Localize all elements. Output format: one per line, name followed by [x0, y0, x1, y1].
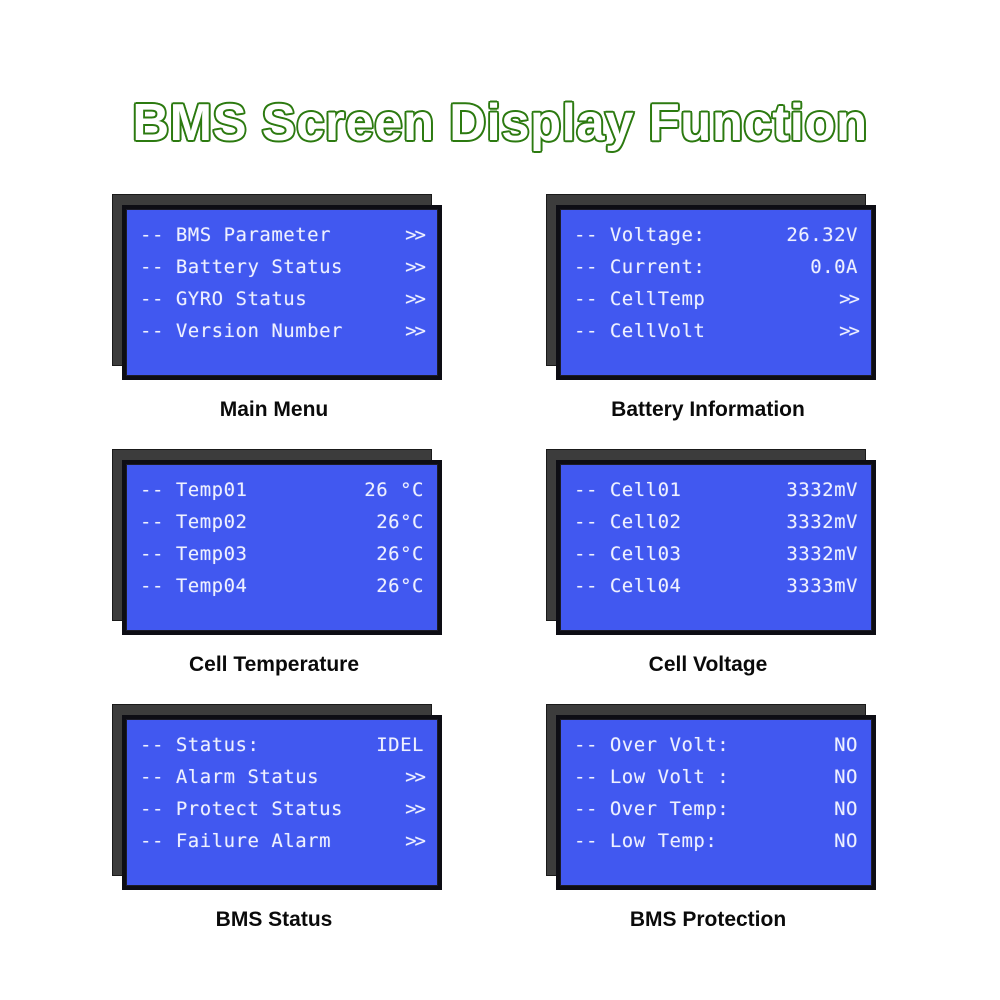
lcd-panel-battery-information[interactable]: -- Voltage:26.32V-- Current:0.0A-- CellT…	[536, 186, 936, 384]
lcd-item-label: CellVolt	[610, 320, 706, 342]
lcd-bullet-dashes: --	[574, 224, 598, 246]
lcd-menu-item[interactable]: -- Failure Alarm>>	[140, 831, 424, 852]
lcd-bullet-dashes: --	[574, 511, 598, 533]
lcd-menu-item[interactable]: -- Low Temp:NO	[574, 831, 858, 852]
lcd-screen[interactable]: -- BMS Parameter>>-- Battery Status>>-- …	[122, 205, 442, 380]
lcd-menu-item[interactable]: -- Protect Status>>	[140, 799, 424, 820]
lcd-item-label-group: -- Status:	[140, 735, 259, 756]
chevron-right-icon[interactable]: >>	[405, 257, 424, 278]
lcd-item-label: Protect Status	[176, 798, 343, 820]
lcd-item-label: Cell04	[610, 575, 682, 597]
panel-caption: Battery Information	[536, 398, 880, 422]
lcd-line-list: -- Status:IDEL-- Alarm Status>>-- Protec…	[140, 735, 424, 852]
lcd-item-label: BMS Parameter	[176, 224, 331, 246]
lcd-item-label-group: -- Cell04	[574, 576, 681, 597]
lcd-panel-bms-status[interactable]: -- Status:IDEL-- Alarm Status>>-- Protec…	[102, 696, 502, 894]
lcd-item-label-group: -- Protect Status	[140, 799, 343, 820]
lcd-menu-item[interactable]: -- Cell013332mV	[574, 480, 858, 501]
lcd-menu-item[interactable]: -- CellVolt>>	[574, 321, 858, 342]
lcd-bullet-dashes: --	[140, 224, 164, 246]
lcd-item-label-group: -- Temp04	[140, 576, 247, 597]
lcd-bullet-dashes: --	[574, 288, 598, 310]
lcd-item-label-group: -- BMS Parameter	[140, 225, 331, 246]
lcd-item-label-group: -- Current:	[574, 257, 705, 278]
lcd-menu-item[interactable]: -- Over Volt:NO	[574, 735, 858, 756]
lcd-item-value: 0.0A	[810, 257, 858, 278]
panel-caption: Cell Temperature	[102, 653, 446, 677]
lcd-menu-item[interactable]: -- GYRO Status>>	[140, 289, 424, 310]
lcd-item-value: NO	[834, 831, 858, 852]
lcd-item-value: IDEL	[376, 735, 424, 756]
lcd-item-label: Voltage:	[610, 224, 706, 246]
lcd-screen[interactable]: -- Voltage:26.32V-- Current:0.0A-- CellT…	[556, 205, 876, 380]
lcd-item-label-group: -- Low Temp:	[574, 831, 717, 852]
lcd-panel-bms-protection[interactable]: -- Over Volt:NO-- Low Volt :NO-- Over Te…	[536, 696, 936, 894]
lcd-menu-item[interactable]: -- Temp0126 °C	[140, 480, 424, 501]
lcd-item-value: NO	[834, 767, 858, 788]
lcd-item-label: GYRO Status	[176, 288, 307, 310]
lcd-item-label: Failure Alarm	[176, 830, 331, 852]
lcd-bullet-dashes: --	[574, 479, 598, 501]
lcd-item-value: 26.32V	[786, 225, 858, 246]
lcd-bullet-dashes: --	[574, 830, 598, 852]
lcd-item-label-group: -- Cell02	[574, 512, 681, 533]
lcd-item-value: 3332mV	[786, 512, 858, 533]
lcd-item-label-group: -- Cell03	[574, 544, 681, 565]
chevron-right-icon[interactable]: >>	[405, 831, 424, 852]
lcd-item-value: 26°C	[376, 544, 424, 565]
lcd-menu-item[interactable]: -- Current:0.0A	[574, 257, 858, 278]
lcd-bullet-dashes: --	[574, 256, 598, 278]
lcd-menu-item[interactable]: -- Status:IDEL	[140, 735, 424, 756]
lcd-module: -- Temp0126 °C-- Temp0226°C-- Temp0326°C…	[102, 441, 446, 639]
chevron-right-icon[interactable]: >>	[839, 321, 858, 342]
lcd-bullet-dashes: --	[140, 511, 164, 533]
chevron-right-icon[interactable]: >>	[405, 321, 424, 342]
lcd-menu-item[interactable]: -- Battery Status>>	[140, 257, 424, 278]
lcd-line-list: -- Cell013332mV-- Cell023332mV-- Cell033…	[574, 480, 858, 597]
lcd-bullet-dashes: --	[140, 575, 164, 597]
lcd-module: -- BMS Parameter>>-- Battery Status>>-- …	[102, 186, 446, 384]
lcd-item-label-group: -- Alarm Status	[140, 767, 319, 788]
lcd-item-value: 3332mV	[786, 544, 858, 565]
lcd-bullet-dashes: --	[574, 543, 598, 565]
lcd-item-label-group: -- CellTemp	[574, 289, 705, 310]
lcd-item-label-group: -- Low Volt :	[574, 767, 729, 788]
chevron-right-icon[interactable]: >>	[405, 799, 424, 820]
lcd-menu-item[interactable]: -- CellTemp>>	[574, 289, 858, 310]
lcd-bullet-dashes: --	[574, 575, 598, 597]
chevron-right-icon[interactable]: >>	[839, 289, 858, 310]
lcd-menu-item[interactable]: -- Cell033332mV	[574, 544, 858, 565]
lcd-item-label: Cell01	[610, 479, 682, 501]
lcd-menu-item[interactable]: -- Cell043333mV	[574, 576, 858, 597]
lcd-item-value: 26°C	[376, 512, 424, 533]
lcd-module: -- Cell013332mV-- Cell023332mV-- Cell033…	[536, 441, 880, 639]
lcd-panel-cell-voltage[interactable]: -- Cell013332mV-- Cell023332mV-- Cell033…	[536, 441, 936, 639]
lcd-item-label: Alarm Status	[176, 766, 319, 788]
panel-caption: BMS Status	[102, 908, 446, 932]
lcd-item-label-group: -- Version Number	[140, 321, 343, 342]
lcd-bullet-dashes: --	[574, 734, 598, 756]
lcd-menu-item[interactable]: -- Alarm Status>>	[140, 767, 424, 788]
lcd-item-label-group: -- Cell01	[574, 480, 681, 501]
lcd-item-label-group: -- Battery Status	[140, 257, 343, 278]
lcd-item-label: Version Number	[176, 320, 343, 342]
lcd-item-label: Temp02	[176, 511, 248, 533]
lcd-screen[interactable]: -- Status:IDEL-- Alarm Status>>-- Protec…	[122, 715, 442, 890]
lcd-bullet-dashes: --	[574, 798, 598, 820]
lcd-screen[interactable]: -- Over Volt:NO-- Low Volt :NO-- Over Te…	[556, 715, 876, 890]
lcd-menu-item[interactable]: -- Temp0426°C	[140, 576, 424, 597]
lcd-item-label-group: -- Temp03	[140, 544, 247, 565]
lcd-item-label-group: -- Temp02	[140, 512, 247, 533]
lcd-line-list: -- Voltage:26.32V-- Current:0.0A-- CellT…	[574, 225, 858, 342]
lcd-item-label: Over Volt:	[610, 734, 729, 756]
lcd-item-label-group: -- Temp01	[140, 480, 247, 501]
lcd-bullet-dashes: --	[140, 766, 164, 788]
lcd-menu-item[interactable]: -- Voltage:26.32V	[574, 225, 858, 246]
chevron-right-icon[interactable]: >>	[405, 289, 424, 310]
lcd-menu-item[interactable]: -- Temp0326°C	[140, 544, 424, 565]
lcd-bullet-dashes: --	[140, 543, 164, 565]
lcd-item-value: 3333mV	[786, 576, 858, 597]
lcd-bullet-dashes: --	[140, 256, 164, 278]
lcd-menu-item[interactable]: -- Low Volt :NO	[574, 767, 858, 788]
lcd-item-label: Current:	[610, 256, 706, 278]
lcd-line-list: -- Temp0126 °C-- Temp0226°C-- Temp0326°C…	[140, 480, 424, 597]
lcd-item-label-group: -- CellVolt	[574, 321, 705, 342]
lcd-item-label: Cell03	[610, 543, 682, 565]
lcd-bullet-dashes: --	[140, 734, 164, 756]
lcd-item-label: Low Volt :	[610, 766, 729, 788]
lcd-bullet-dashes: --	[140, 320, 164, 342]
lcd-item-value: NO	[834, 799, 858, 820]
panel-caption: Main Menu	[102, 398, 446, 422]
lcd-menu-item[interactable]: -- Cell023332mV	[574, 512, 858, 533]
lcd-menu-item[interactable]: -- Temp0226°C	[140, 512, 424, 533]
lcd-panel-grid: -- BMS Parameter>>-- Battery Status>>-- …	[0, 0, 1000, 1000]
panel-caption: BMS Protection	[536, 908, 880, 932]
lcd-panel-main-menu[interactable]: -- BMS Parameter>>-- Battery Status>>-- …	[102, 186, 502, 384]
lcd-screen[interactable]: -- Temp0126 °C-- Temp0226°C-- Temp0326°C…	[122, 460, 442, 635]
lcd-line-list: -- BMS Parameter>>-- Battery Status>>-- …	[140, 225, 424, 342]
lcd-item-label-group: -- GYRO Status	[140, 289, 307, 310]
lcd-module: -- Voltage:26.32V-- Current:0.0A-- CellT…	[536, 186, 880, 384]
lcd-item-label-group: -- Voltage:	[574, 225, 705, 246]
lcd-item-value: 26°C	[376, 576, 424, 597]
lcd-bullet-dashes: --	[140, 830, 164, 852]
lcd-item-label: Low Temp:	[610, 830, 717, 852]
lcd-item-label-group: -- Failure Alarm	[140, 831, 331, 852]
chevron-right-icon[interactable]: >>	[405, 767, 424, 788]
lcd-bullet-dashes: --	[140, 798, 164, 820]
lcd-item-label: Status:	[176, 734, 260, 756]
lcd-bullet-dashes: --	[574, 320, 598, 342]
lcd-menu-item[interactable]: -- Over Temp:NO	[574, 799, 858, 820]
lcd-item-label: Battery Status	[176, 256, 343, 278]
lcd-screen[interactable]: -- Cell013332mV-- Cell023332mV-- Cell033…	[556, 460, 876, 635]
panel-caption: Cell Voltage	[536, 653, 880, 677]
lcd-item-label: Temp03	[176, 543, 248, 565]
lcd-module: -- Over Volt:NO-- Low Volt :NO-- Over Te…	[536, 696, 880, 894]
lcd-item-label: CellTemp	[610, 288, 706, 310]
lcd-panel-cell-temperature[interactable]: -- Temp0126 °C-- Temp0226°C-- Temp0326°C…	[102, 441, 502, 639]
lcd-item-label: Temp04	[176, 575, 248, 597]
lcd-line-list: -- Over Volt:NO-- Low Volt :NO-- Over Te…	[574, 735, 858, 852]
lcd-item-label: Cell02	[610, 511, 682, 533]
lcd-menu-item[interactable]: -- BMS Parameter>>	[140, 225, 424, 246]
lcd-menu-item[interactable]: -- Version Number>>	[140, 321, 424, 342]
lcd-bullet-dashes: --	[574, 766, 598, 788]
lcd-item-label-group: -- Over Volt:	[574, 735, 729, 756]
lcd-item-label: Temp01	[176, 479, 248, 501]
chevron-right-icon[interactable]: >>	[405, 225, 424, 246]
lcd-bullet-dashes: --	[140, 288, 164, 310]
lcd-bullet-dashes: --	[140, 479, 164, 501]
lcd-module: -- Status:IDEL-- Alarm Status>>-- Protec…	[102, 696, 446, 894]
lcd-item-value: 26 °C	[364, 480, 424, 501]
lcd-item-value: NO	[834, 735, 858, 756]
lcd-item-label: Over Temp:	[610, 798, 729, 820]
lcd-item-value: 3332mV	[786, 480, 858, 501]
lcd-item-label-group: -- Over Temp:	[574, 799, 729, 820]
